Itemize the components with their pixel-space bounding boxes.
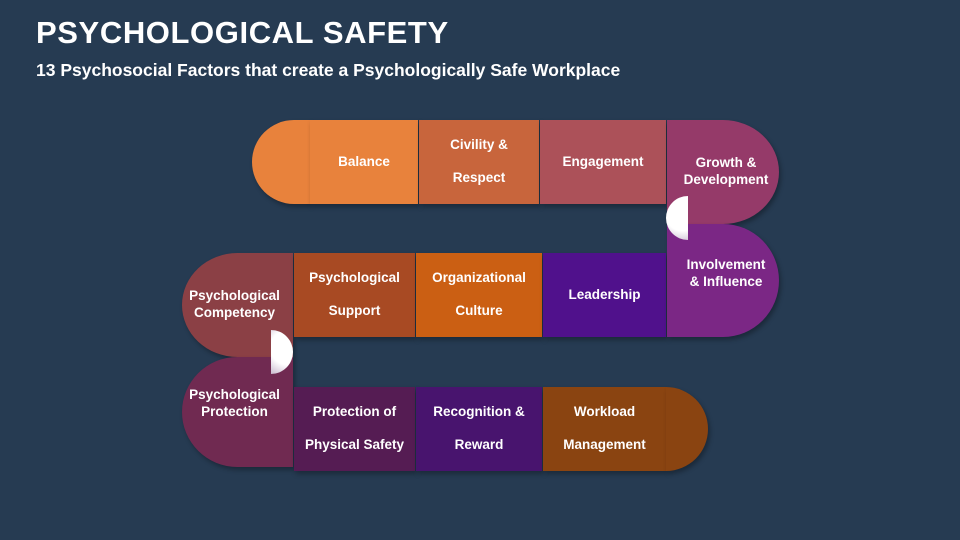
factor-workload-management[interactable]: Workload Management	[543, 387, 666, 471]
psychosocial-factors-diagram: Balance Civility & Respect Engagement Gr…	[0, 0, 960, 540]
factor-leadership-label: Leadership	[568, 287, 640, 304]
factor-balance[interactable]: Balance	[310, 120, 418, 204]
factor-growth-development-label: Growth & Development	[673, 155, 779, 189]
factor-engagement-label: Engagement	[562, 154, 643, 171]
factor-civility-respect-label: Civility & Respect	[450, 137, 508, 188]
slide-canvas: PSYCHOLOGICAL SAFETY 13 Psychosocial Fac…	[0, 0, 960, 540]
factor-psychological-support[interactable]: Psychological Support	[294, 253, 415, 337]
factor-civility-respect[interactable]: Civility & Respect	[419, 120, 539, 204]
factor-protection-physical-safety[interactable]: Protection of Physical Safety	[294, 387, 415, 471]
factor-protection-physical-safety-label: Protection of Physical Safety	[305, 404, 404, 455]
factor-psychological-support-label: Psychological Support	[309, 270, 400, 321]
row3-right-cap	[666, 387, 708, 471]
row1-left-cap	[252, 120, 310, 204]
factor-engagement[interactable]: Engagement	[540, 120, 666, 204]
factor-psychological-protection-label: Psychological Protection	[182, 387, 287, 421]
factor-recognition-reward[interactable]: Recognition & Reward	[416, 387, 542, 471]
factor-organizational-culture[interactable]: Organizational Culture	[416, 253, 542, 337]
factor-psychological-competency-label: Psychological Competency	[182, 288, 287, 322]
factor-workload-management-label: Workload Management	[563, 404, 646, 455]
factor-involvement-influence-label: Involvement & Influence	[673, 257, 779, 291]
factor-involvement-influence[interactable]: Involvement & Influence	[667, 224, 779, 337]
factor-leadership[interactable]: Leadership	[543, 253, 666, 337]
factor-balance-label: Balance	[338, 154, 390, 171]
factor-organizational-culture-label: Organizational Culture	[432, 270, 526, 321]
factor-recognition-reward-label: Recognition & Reward	[433, 404, 525, 455]
factor-psychological-protection[interactable]: Psychological Protection	[182, 357, 293, 467]
